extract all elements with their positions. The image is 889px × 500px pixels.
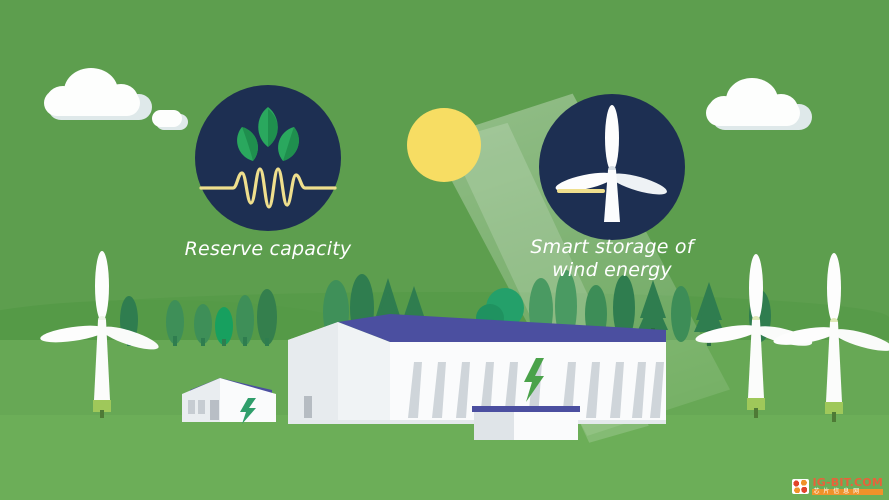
three-leaves [237,107,299,161]
house-window [198,400,205,414]
illustration-canvas: Reserve capacity Smart storage of wind e… [0,0,889,500]
leaves-waveform-icon [195,85,341,231]
warehouse-roof [338,314,666,342]
badge-label-smart-storage: Smart storage of wind energy [512,236,712,282]
ig-bit-watermark: IG-BIT.COM 芯 片 信 息 网 [790,476,885,496]
cloud-right [704,78,812,132]
house-window [188,400,195,414]
cloud-left [42,66,152,122]
badge-label-reserve-capacity: Reserve capacity [168,238,368,261]
badge-smart-storage[interactable] [539,94,685,240]
annex-building [462,398,592,448]
turbine-left [38,250,168,440]
sun [407,108,481,182]
cloud-left-small [152,110,188,132]
annex-roof [472,406,580,412]
annex-wall-right [514,412,578,440]
annex-wall-left [474,412,514,440]
turbine-right-b [770,252,889,442]
ig-bit-logo-icon [792,479,809,494]
house-door [210,400,219,420]
watermark-domain: IG-BIT.COM [812,477,883,488]
watermark-subtitle: 芯 片 信 息 网 [812,489,883,495]
gold-waveform-line [201,169,335,207]
wind-turbine [554,105,669,222]
gold-horizontal-line [557,189,605,193]
ig-bit-text: IG-BIT.COM 芯 片 信 息 网 [812,477,883,495]
warehouse-door [304,396,312,418]
badge-reserve-capacity[interactable] [195,85,341,231]
small-house [176,372,286,432]
wind-turbine-icon [539,94,685,240]
